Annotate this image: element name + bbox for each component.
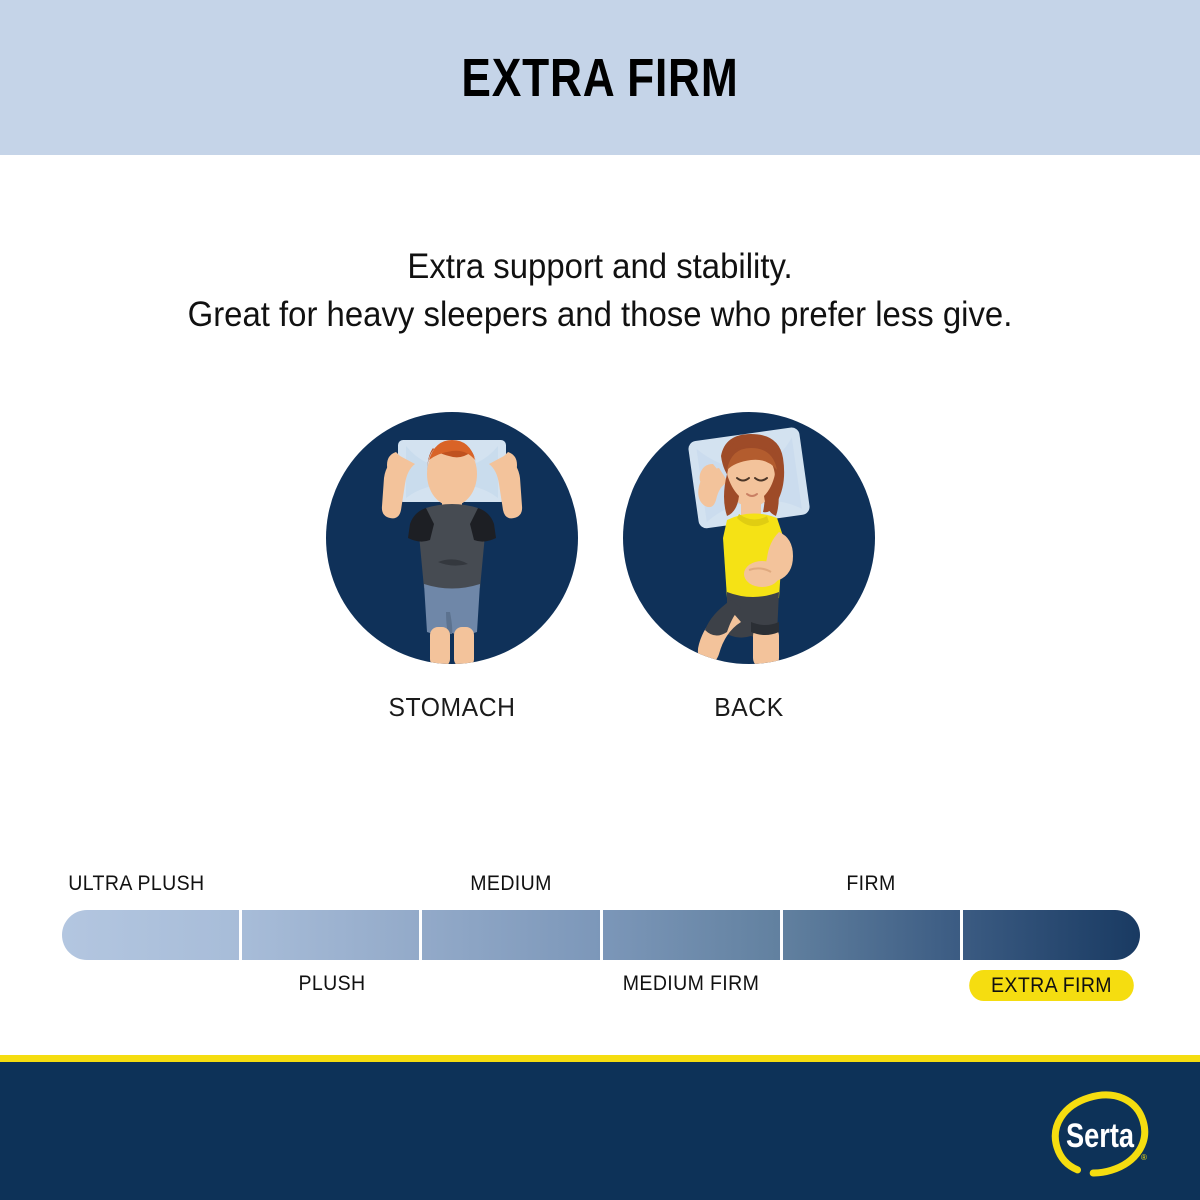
serta-logo[interactable]: Serta ® [1045,1090,1155,1178]
sleeper-card-stomach: STOMACH [326,412,578,723]
firmness-bar[interactable] [62,910,1140,960]
firmness-segment-ultra-plush[interactable] [62,910,242,960]
firmness-segment-plush[interactable] [242,910,422,960]
firmness-segment-medium-firm[interactable] [603,910,783,960]
registered-trademark-symbol: ® [1141,1153,1147,1162]
sleeper-positions: STOMACH [0,412,1200,723]
firmness-segment-firm[interactable] [783,910,963,960]
header-band: EXTRA FIRM [0,0,1200,155]
firmness-label-extra-firm-selected[interactable]: EXTRA FIRM [969,970,1134,1001]
firmness-label-medium-firm: MEDIUM FIRM [607,970,774,998]
firmness-label-ultra-plush: ULTRA PLUSH [68,870,235,898]
firmness-label-firm: FIRM [787,870,954,898]
firmness-labels-top: ULTRA PLUSH MEDIUM FIRM [62,870,1140,898]
firmness-segment-extra-firm[interactable] [963,910,1140,960]
sleeper-label-back: BACK [629,692,868,723]
firmness-scale: ULTRA PLUSH MEDIUM FIRM PLUSH MEDIUM FIR… [0,862,1200,1012]
subtitle-line-1: Extra support and stability. [36,243,1164,291]
stomach-sleeper-icon [326,412,578,664]
back-sleeper-circle [623,412,875,664]
firmness-labels-bottom: PLUSH MEDIUM FIRM EXTRA FIRM [62,970,1140,998]
footer-band [0,1062,1200,1200]
back-sleeper-icon [623,412,875,664]
page-title: EXTRA FIRM [461,47,738,109]
firmness-label-plush: PLUSH [248,970,415,998]
sleeper-label-stomach: STOMACH [332,692,571,723]
sleeper-card-back: BACK [623,412,875,723]
serta-logo-text: Serta [1066,1116,1135,1155]
footer-accent-stripe [0,1055,1200,1062]
firmness-label-medium: MEDIUM [427,870,594,898]
subtitle-line-2: Great for heavy sleepers and those who p… [36,291,1164,339]
stomach-sleeper-circle [326,412,578,664]
serta-logo-icon: Serta ® [1045,1090,1155,1178]
subtitle-block: Extra support and stability. Great for h… [36,243,1164,339]
firmness-segment-medium[interactable] [422,910,602,960]
